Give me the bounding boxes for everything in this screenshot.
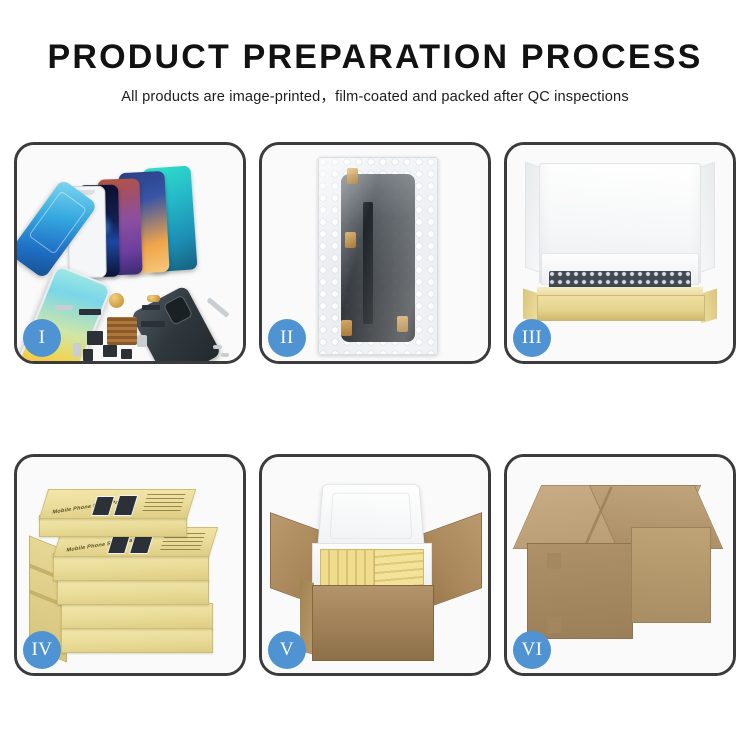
component-battery-chip [73,343,81,357]
stacked-box-front-side [53,553,209,581]
carton-right-face [631,527,711,623]
stacked-box-bottom-3 [57,579,209,605]
step-panel-2: II [259,142,491,364]
step-panel-3: III [504,142,736,364]
step-badge-5: V [268,631,306,669]
stacked-box-rear-top: Mobile Phone Spare Parts [39,489,196,519]
bubble-wrap-bag [318,157,438,355]
component-bracket-1 [87,331,103,345]
component-flex-cable-2 [142,305,160,310]
component-vibrator [121,349,132,359]
box-thumbnail-front-1 [107,534,131,554]
step-badge-4: IV [23,631,61,669]
component-sim-tray [137,335,147,347]
box-thumbnail-rear-2 [113,495,138,516]
box-stack: Mobile Phone Spare Parts Mobile Phone Sp… [25,475,237,665]
component-speaker [109,293,124,308]
carton-body [312,585,434,661]
carton-tape-lower [547,617,561,633]
page-title: PRODUCT PREPARATION PROCESS [0,0,750,76]
tape-tab-bottom-right [397,316,408,332]
step-badge-6: VI [513,631,551,669]
step-badge-2: II [268,319,306,357]
component-flex-cable-1 [79,309,101,315]
component-gold-connector [147,295,160,302]
step-panel-6: VI [504,454,736,676]
carton-front-face [527,543,633,639]
step-panel-1: I [14,142,246,364]
component-screw-2 [221,353,229,357]
wrapped-flex-cable [363,202,373,324]
tape-tab-bottom-left [341,320,352,336]
tape-tab-middle [345,232,356,248]
process-steps-grid: I II [14,142,736,676]
step-panel-5: V [259,454,491,676]
component-flex-cable-3 [141,321,165,327]
tray-front-kraft [537,295,705,321]
step-panel-4: Mobile Phone Spare Parts Mobile Phone Sp… [14,454,246,676]
step-badge-1: I [23,319,61,357]
packed-yellow-boxes-right [374,549,424,587]
step-badge-3: III [513,319,551,357]
tape-tab-top [347,168,358,184]
component-antenna-strip [55,305,73,310]
component-camera-module [103,345,117,357]
foam-lid-open [317,484,425,550]
box-spec-text-rear [142,494,186,512]
stacked-box-bottom-1 [61,627,213,653]
stacked-box-bottom-2 [61,603,213,629]
component-logic-board [107,317,137,345]
page-subtitle: All products are image-printed，film-coat… [0,76,750,106]
component-screw-1 [213,345,222,349]
carton-tape-upper [547,553,561,569]
component-bracket-2 [83,349,93,361]
box-thumbnail-rear-1 [91,496,115,516]
page-header: PRODUCT PREPARATION PROCESS All products… [0,0,750,106]
